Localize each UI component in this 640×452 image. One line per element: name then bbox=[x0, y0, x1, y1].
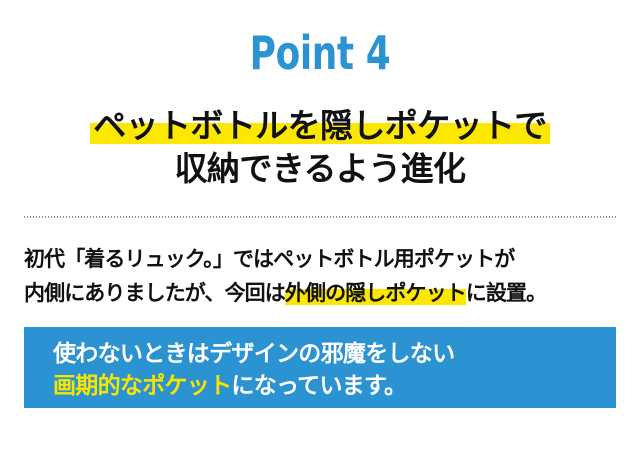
slide-root: Point 4 ペットボトルを隠しポケットで 収納できるよう進化 初代「着るリュ… bbox=[0, 0, 640, 452]
headline-line-2: 収納できるよう進化 bbox=[0, 147, 640, 190]
dotted-divider bbox=[24, 216, 616, 218]
callout-line-1: 使わないときはデザインの邪魔をしない bbox=[53, 337, 454, 369]
body-line-1: 初代「着るリュック。」ではペットボトル用ポケットが bbox=[24, 243, 624, 277]
headline-line-1: ペットボトルを隠しポケットで bbox=[0, 104, 640, 147]
callout-text: 使わないときはデザインの邪魔をしない 画期的なポケットになっています。 bbox=[53, 337, 454, 401]
body-paragraph: 初代「着るリュック。」ではペットボトル用ポケットが 内側にありましたが、今回は外… bbox=[24, 243, 624, 311]
callout-box: 使わないときはデザインの邪魔をしない 画期的なポケットになっています。 bbox=[24, 327, 616, 408]
body-line-2-prefix: 内側にありましたが、今回は bbox=[24, 282, 285, 305]
body-line-2-highlight: 外側の隠しポケット bbox=[285, 282, 466, 305]
headline: ペットボトルを隠しポケットで 収納できるよう進化 bbox=[0, 104, 640, 190]
callout-line-2-accent: 画期的なポケット bbox=[53, 372, 231, 398]
headline-line-1-text: ペットボトルを隠しポケットで bbox=[90, 107, 550, 144]
callout-line-2: 画期的なポケットになっています。 bbox=[53, 369, 454, 401]
body-line-2-suffix: に設置。 bbox=[466, 282, 546, 305]
point-title: Point 4 bbox=[70, 27, 569, 79]
body-line-2: 内側にありましたが、今回は外側の隠しポケットに設置。 bbox=[24, 277, 624, 311]
callout-line-2-rest: になっています。 bbox=[231, 372, 406, 398]
